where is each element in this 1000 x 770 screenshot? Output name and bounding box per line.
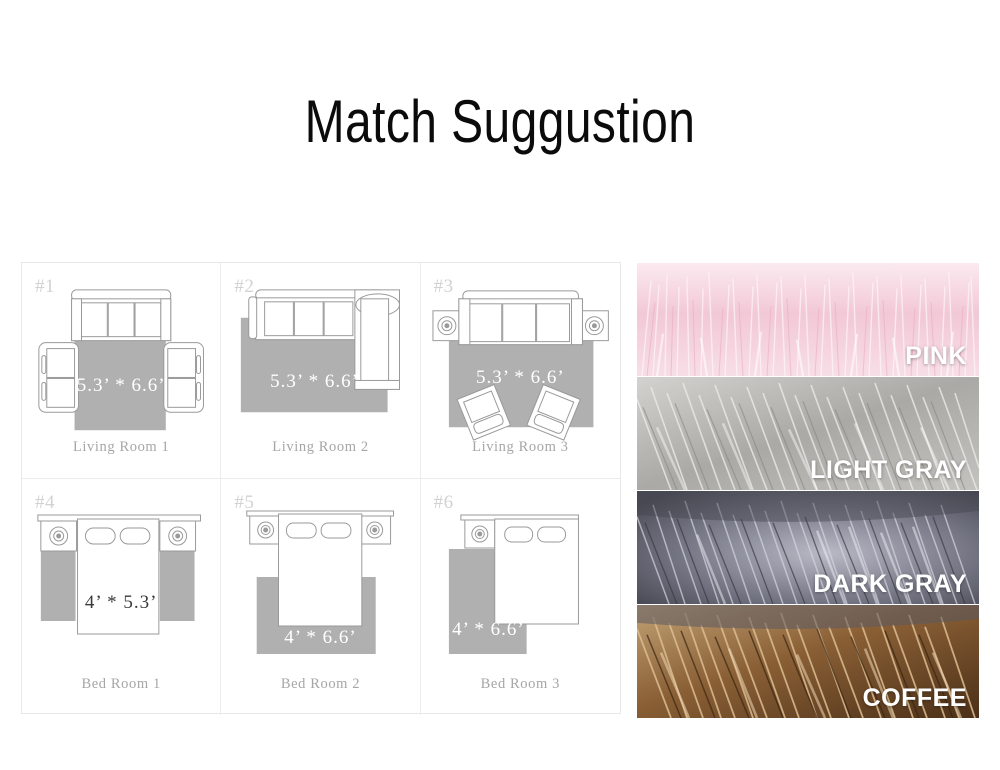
room-caption-5: Bed Room 2 — [221, 676, 419, 693]
rug-dimension-4: 4’ * 5.3’ — [85, 592, 158, 614]
swatch-label-pink: PINK — [905, 344, 967, 369]
room-cell-5[interactable]: #5 4’ * 6.6’ — [221, 479, 420, 715]
room-caption-6: Bed Room 3 — [421, 676, 620, 693]
swatch-pink[interactable]: PINK — [637, 263, 979, 376]
swatch-light-gray[interactable]: LIGHT GRAY — [637, 376, 979, 490]
room-cell-6[interactable]: #6 4’ * 6.6’ Bed Room 3 — [421, 479, 620, 715]
rug-dimension-5: 4’ * 6.6’ — [284, 627, 357, 649]
swatch-label-coffee: COFFEE — [863, 686, 967, 711]
room-cell-1[interactable]: #1 — [22, 263, 221, 479]
room-cell-2[interactable]: #2 — [221, 263, 420, 479]
swatch-dark-gray[interactable]: DARK GRAY — [637, 490, 979, 604]
room-layout-grid: #1 — [21, 262, 621, 714]
room-caption-2: Living Room 2 — [221, 439, 419, 456]
swatch-label-light-gray: LIGHT GRAY — [810, 458, 967, 483]
rug-dimension-3: 5.3’ * 6.6’ — [476, 367, 565, 389]
swatch-coffee[interactable]: COFFEE — [637, 604, 979, 718]
rug-dimension-1: 5.3’ * 6.6’ — [77, 375, 166, 397]
room-caption-3: Living Room 3 — [421, 439, 620, 456]
color-swatch-column: PINK — [637, 263, 979, 718]
rug-dimension-2: 5.3’ * 6.6’ — [270, 371, 359, 393]
swatch-label-dark-gray: DARK GRAY — [813, 572, 967, 597]
room-cell-3[interactable]: #3 — [421, 263, 620, 479]
page-title: Match Suggustion — [100, 92, 900, 152]
room-cell-4[interactable]: #4 — [22, 479, 221, 715]
room-caption-1: Living Room 1 — [22, 439, 220, 456]
rug-dimension-6: 4’ * 6.6’ — [452, 619, 525, 641]
room-caption-4: Bed Room 1 — [22, 676, 220, 693]
